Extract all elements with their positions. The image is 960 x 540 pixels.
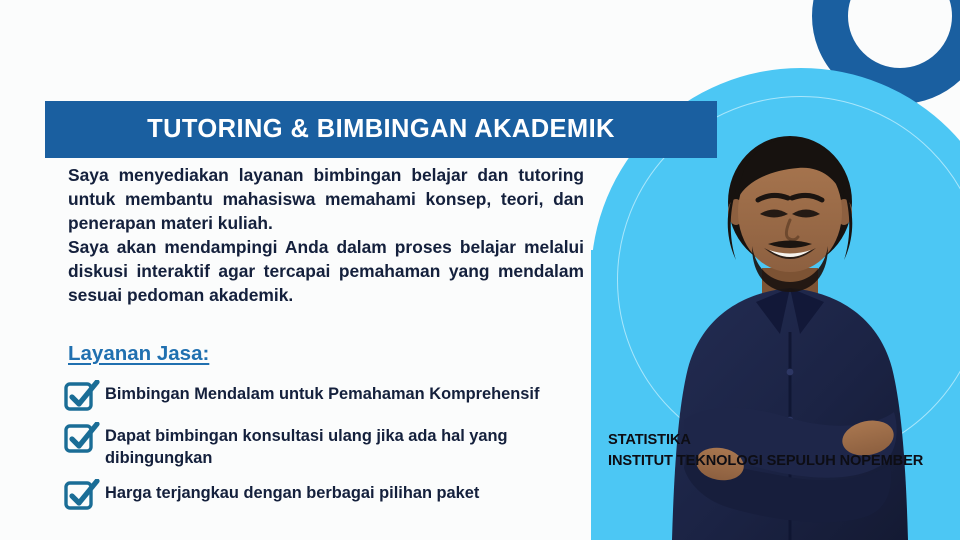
list-item: Harga terjangkau dengan berbagai pilihan…: [63, 480, 583, 512]
credit-line-institution: INSTITUT TEKNOLOGI SEPULUH NOPEMBER: [608, 451, 923, 472]
list-item: Bimbingan Mendalam untuk Pemahaman Kompr…: [63, 381, 583, 413]
services-list: Bimbingan Mendalam untuk Pemahaman Kompr…: [63, 381, 583, 522]
list-item-label: Harga terjangkau dengan berbagai pilihan…: [103, 480, 479, 505]
checkbox-checked-icon: [63, 479, 103, 512]
institution-credit: STATISTIKA INSTITUT TEKNOLOGI SEPULUH NO…: [608, 430, 923, 472]
list-item-label: Dapat bimbingan konsultasi ulang jika ad…: [103, 423, 583, 470]
checkbox-checked-icon: [63, 422, 103, 455]
list-item-label: Bimbingan Mendalam untuk Pemahaman Kompr…: [103, 381, 539, 406]
intro-paragraph-2: Saya akan mendampingi Anda dalam proses …: [68, 235, 584, 307]
list-item: Dapat bimbingan konsultasi ulang jika ad…: [63, 423, 583, 470]
intro-paragraph-1: Saya menyediakan layanan bimbingan belaj…: [68, 163, 584, 235]
slide-title-bar: TUTORING & BIMBINGAN AKADEMIK: [45, 101, 717, 158]
intro-description: Saya menyediakan layanan bimbingan belaj…: [68, 163, 584, 307]
services-heading: Layanan Jasa:: [68, 342, 209, 366]
slide-canvas: TUTORING & BIMBINGAN AKADEMIK Saya menye…: [0, 0, 960, 540]
checkbox-checked-icon: [63, 380, 103, 413]
credit-line-department: STATISTIKA: [608, 430, 923, 451]
page-title: TUTORING & BIMBINGAN AKADEMIK: [147, 115, 615, 144]
tutor-portrait-photo: [640, 120, 940, 540]
